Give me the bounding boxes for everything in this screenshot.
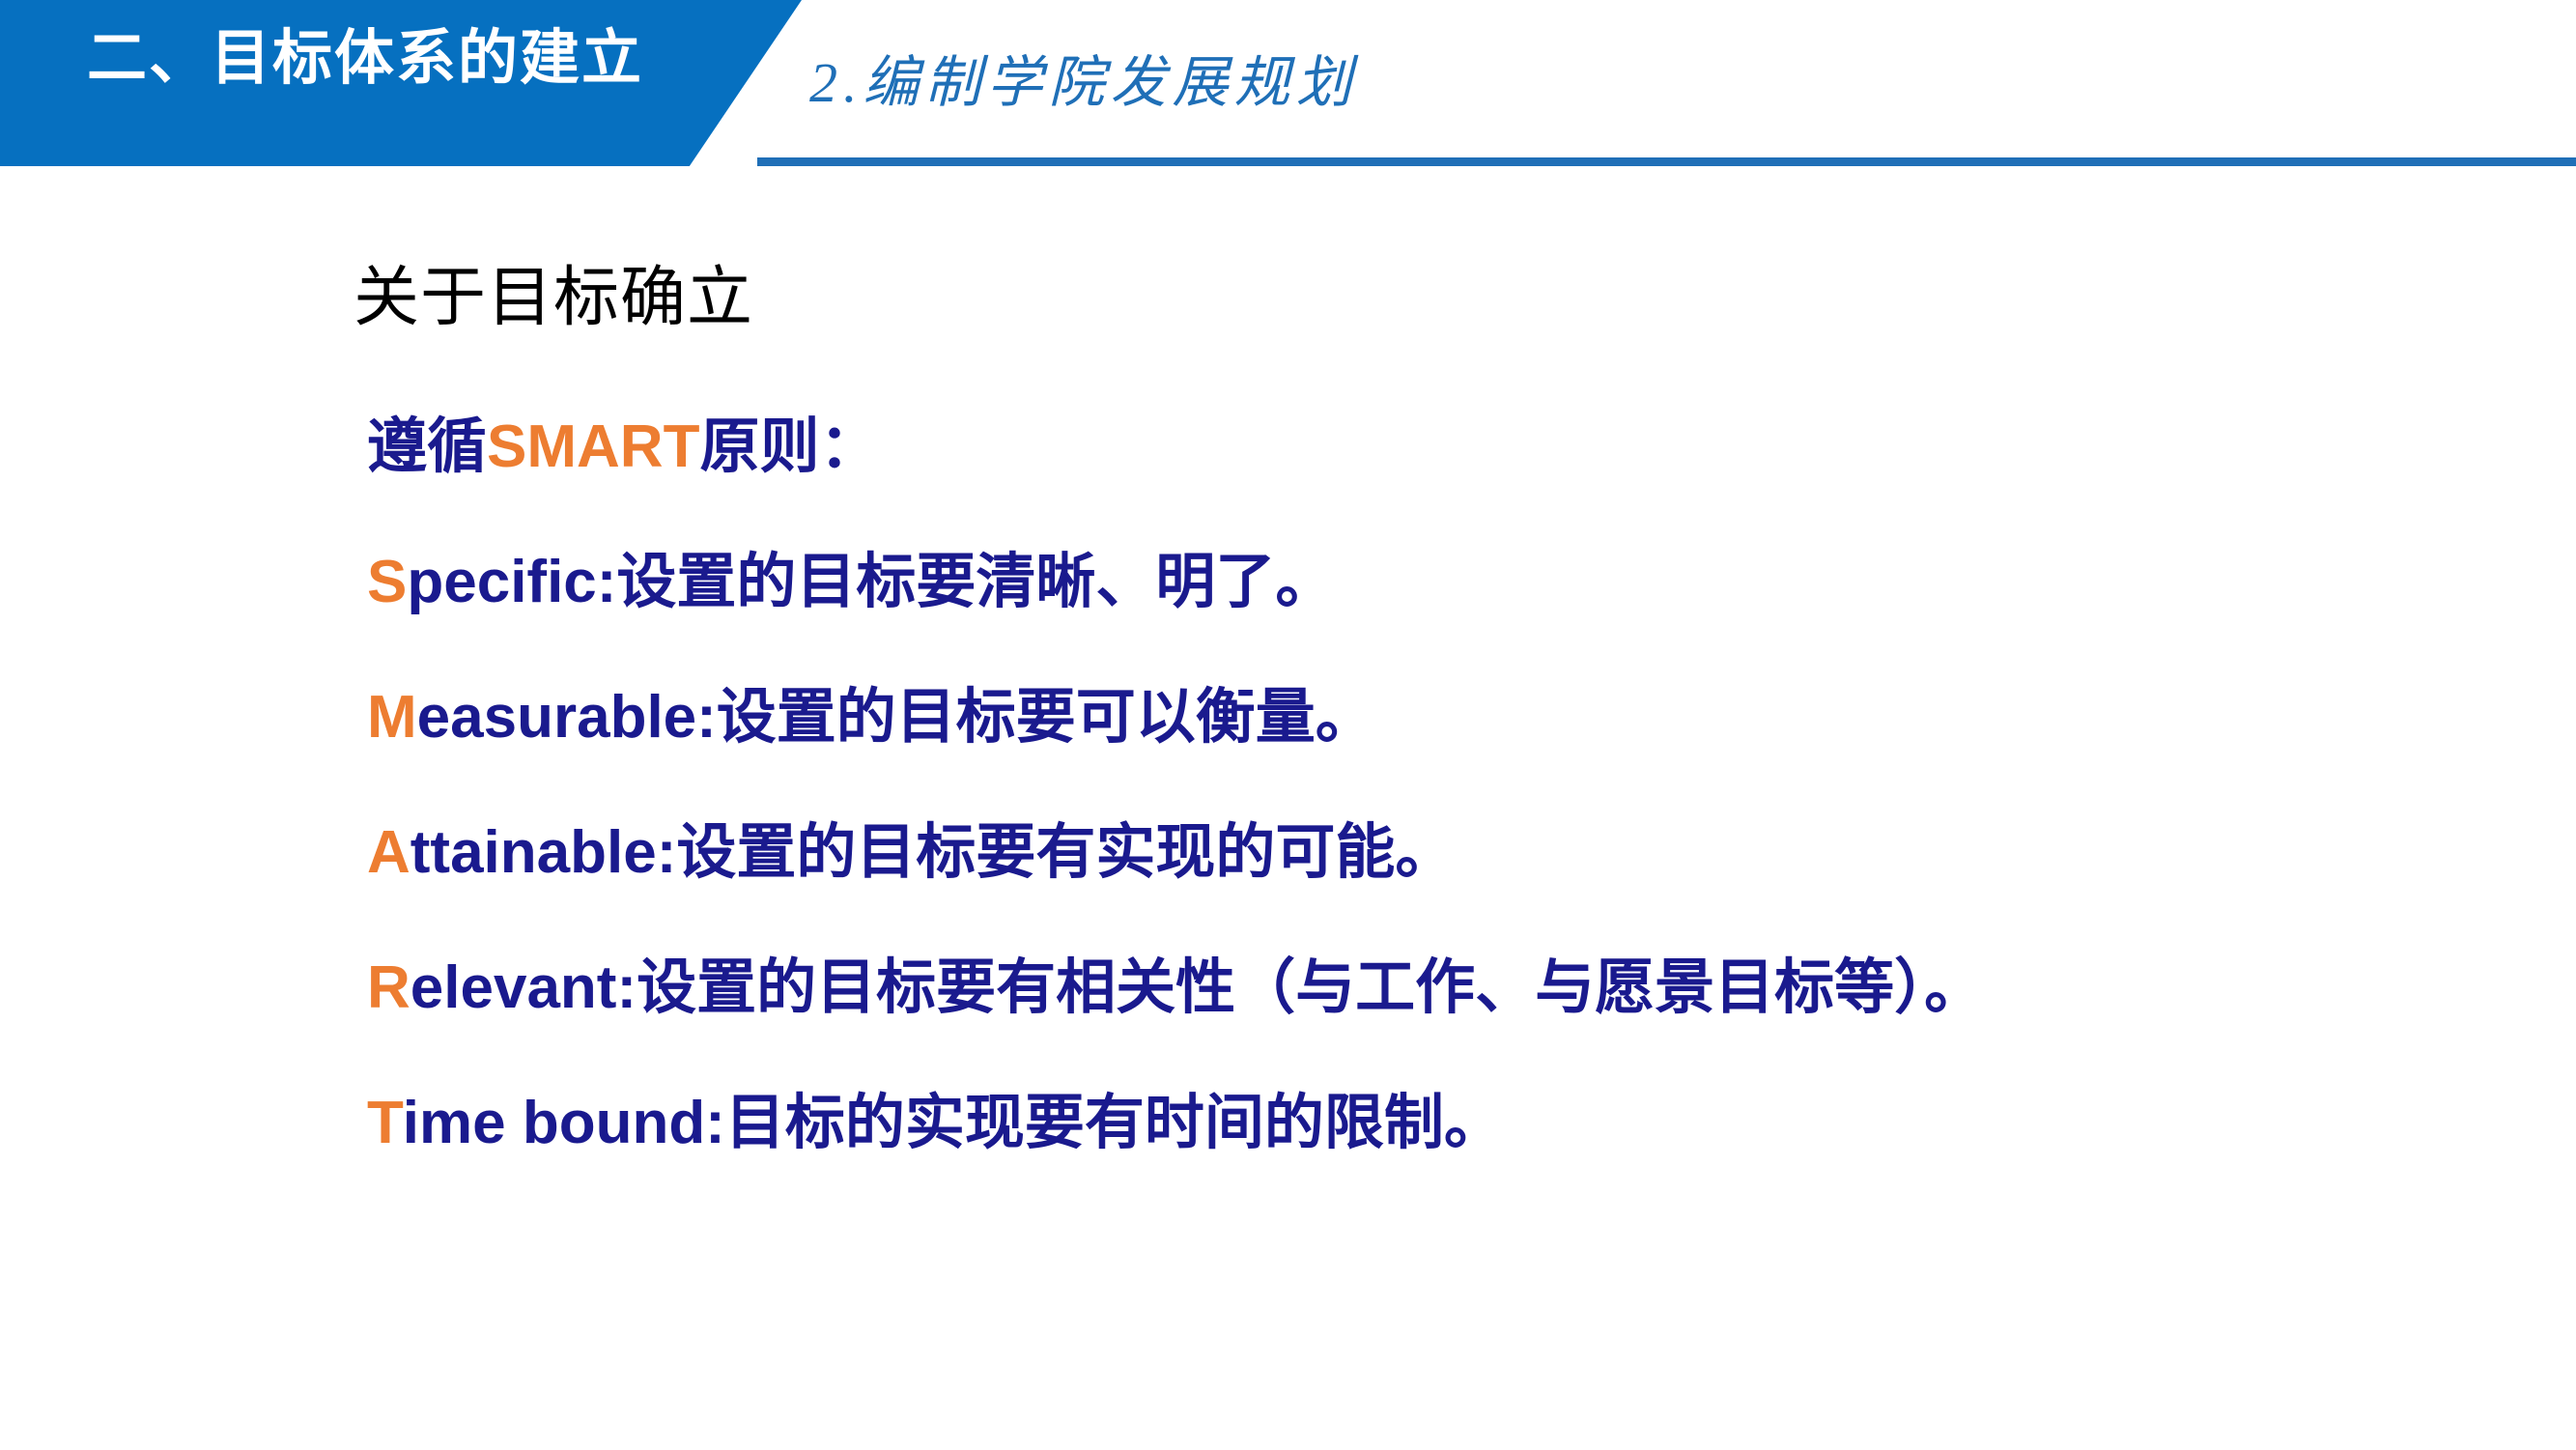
- page-section-title: 二、目标体系的建立: [87, 29, 705, 89]
- smart-intro-line: 遵循SMART原则：: [367, 417, 2492, 477]
- smart-letter-s: S: [367, 549, 407, 615]
- smart-item-measurable: Measurable:设置的目标要可以衡量。: [367, 688, 2492, 748]
- smart-text-measurable: easurable:设置的目标要可以衡量。: [417, 684, 1375, 751]
- smart-letter-m: M: [367, 684, 417, 751]
- smart-intro-prefix: 遵循: [367, 413, 487, 480]
- smart-item-attainable: Attainable:设置的目标要有实现的可能。: [367, 823, 2492, 883]
- smart-text-attainable: ttainable:设置的目标要有实现的可能。: [410, 819, 1456, 886]
- header-band: 二、目标体系的建立: [0, 0, 802, 166]
- smart-principle-list: 遵循SMART原则： Specific:设置的目标要清晰、明了。 Measura…: [367, 417, 2492, 1229]
- content-heading: 关于目标确立: [354, 243, 753, 339]
- smart-item-time-bound: Time bound:目标的实现要有时间的限制。: [367, 1094, 2492, 1153]
- smart-text-specific: pecific:设置的目标要清晰、明了。: [407, 549, 1335, 615]
- smart-letter-r: R: [367, 954, 410, 1021]
- header-divider-rule: [757, 157, 2576, 166]
- smart-letter-t: T: [367, 1090, 403, 1156]
- page-subsection-title: 2.编制学院发展规划: [809, 37, 1358, 118]
- smart-item-specific: Specific:设置的目标要清晰、明了。: [367, 553, 2492, 612]
- smart-item-relevant: Relevant:设置的目标要有相关性（与工作、与愿景目标等）。: [367, 958, 2492, 1018]
- smart-intro-suffix: 原则：: [699, 413, 879, 480]
- smart-text-time-bound: ime bound:目标的实现要有时间的限制。: [403, 1090, 1504, 1156]
- smart-acronym: SMART: [487, 413, 699, 480]
- smart-text-relevant: elevant:设置的目标要有相关性（与工作、与愿景目标等）。: [410, 954, 1984, 1021]
- smart-letter-a: A: [367, 819, 410, 886]
